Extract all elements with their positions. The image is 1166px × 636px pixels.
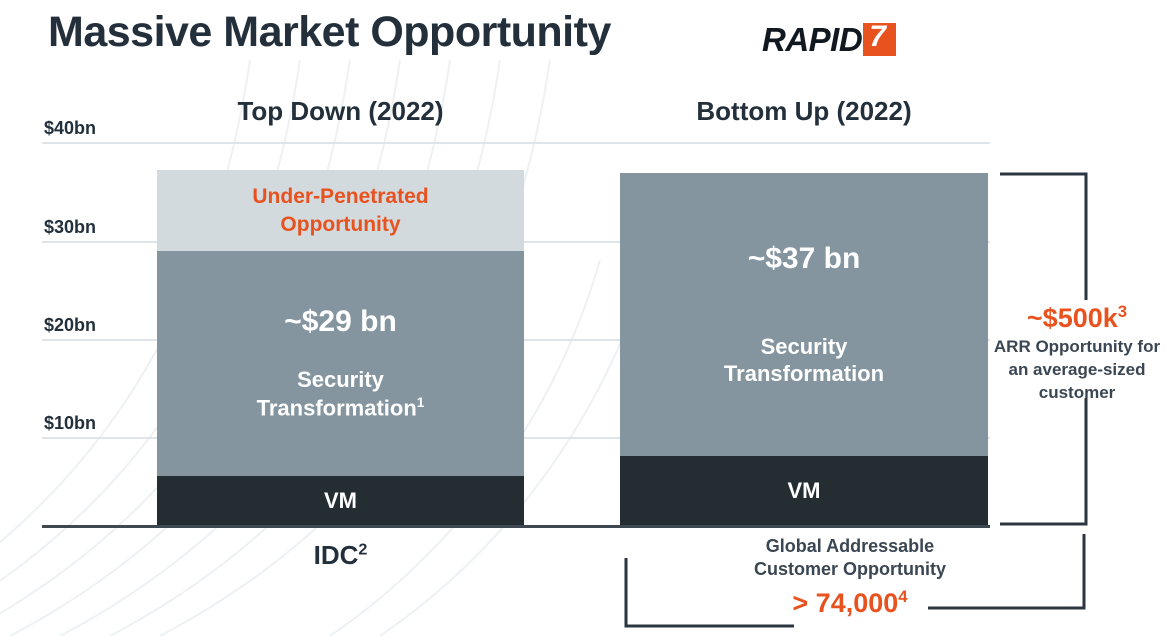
gac-footnote: 4 <box>898 587 907 606</box>
bottom-up-sub-line2: Transformation <box>724 360 884 388</box>
axis-tick-label-30: $30bn <box>44 217 96 238</box>
top-down-sub-line1: Security <box>297 366 384 394</box>
bottom-up-vm-label: VM <box>788 478 821 504</box>
axis-tick-label-10: $10bn <box>44 413 96 434</box>
top-down-vm-label: VM <box>324 488 357 514</box>
column-header-top-down: Top Down (2022) <box>157 96 524 127</box>
axis-tick-label-20: $20bn <box>44 315 96 336</box>
axis-tick-label-40: $40bn <box>44 118 96 139</box>
arr-value-text: ~$500k <box>1027 303 1118 333</box>
gac-value-text: > 74,000 <box>792 588 898 618</box>
idc-footnote: 2 <box>358 540 367 558</box>
gac-desc-line1: Global Addressable <box>660 535 1040 558</box>
top-down-sub-text: Transformation <box>257 395 417 420</box>
top-down-footnote: 1 <box>417 395 425 410</box>
arr-description: ARR Opportunity for an average-sized cus… <box>988 336 1166 405</box>
column-header-bottom-up: Bottom Up (2022) <box>620 96 988 127</box>
bar-segment-top-down-security: ~$29 bn Security Transformation1 <box>157 251 524 476</box>
under-penetrated-line2: Opportunity <box>280 211 400 238</box>
slide-root: Massive Market Opportunity RAPID Top Dow… <box>0 0 1166 636</box>
arr-footnote: 3 <box>1118 302 1127 321</box>
bar-segment-bottom-up-vm: VM <box>620 456 988 525</box>
top-down-sub-line2: Transformation1 <box>257 394 425 422</box>
arr-desc-line3: customer <box>988 382 1166 405</box>
bar-segment-top-down-vm: VM <box>157 476 524 525</box>
top-down-source-label: IDC2 <box>157 540 524 571</box>
global-addressable-callout: Global Addressable Customer Opportunity … <box>660 535 1040 619</box>
logo-seven-mark <box>863 23 896 56</box>
global-addressable-value: > 74,0004 <box>660 587 1040 619</box>
idc-text: IDC <box>314 540 359 570</box>
global-addressable-description: Global Addressable Customer Opportunity <box>660 535 1040 582</box>
bar-segment-bottom-up-security: ~$37 bn Security Transformation <box>620 173 988 456</box>
bottom-up-sub-line1: Security <box>761 333 848 361</box>
bar-segment-under-penetrated: Under-Penetrated Opportunity <box>157 170 524 251</box>
page-title: Massive Market Opportunity <box>48 8 611 57</box>
arr-desc-line2: an average-sized <box>988 359 1166 382</box>
arr-opportunity-callout: ~$500k3 ARR Opportunity for an average-s… <box>988 302 1166 405</box>
gridline-40 <box>42 142 990 144</box>
gac-desc-line2: Customer Opportunity <box>660 558 1040 581</box>
bottom-up-value: ~$37 bn <box>748 242 861 275</box>
under-penetrated-line1: Under-Penetrated <box>252 183 428 210</box>
arr-value: ~$500k3 <box>988 302 1166 334</box>
rapid7-logo: RAPID <box>762 20 896 58</box>
logo-wordmark: RAPID <box>762 23 862 56</box>
axis-baseline <box>42 525 990 528</box>
top-down-value: ~$29 bn <box>284 305 397 338</box>
arr-desc-line1: ARR Opportunity for <box>988 336 1166 359</box>
